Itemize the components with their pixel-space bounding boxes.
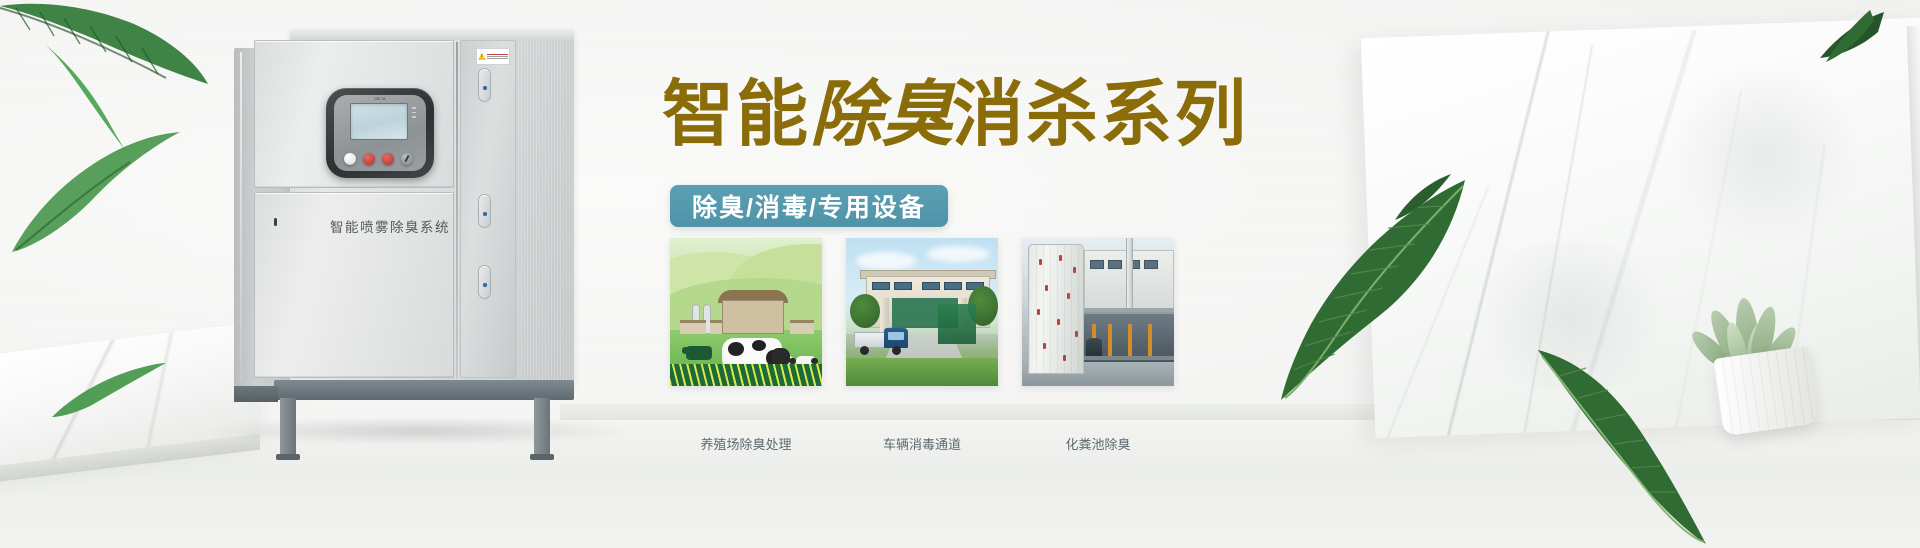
warning-sticker-lines — [487, 53, 508, 60]
thumbnail-disinfection-station[interactable] — [846, 238, 998, 386]
cabinet-base-plinth — [274, 380, 574, 400]
cabinet-handle-upper[interactable] — [478, 68, 491, 102]
power-indicator-lamp[interactable] — [344, 153, 356, 165]
product-banner: DELTA 智能喷雾除臭系统 智能除臭消杀系列 — [0, 0, 1920, 548]
leaf-tip-icon — [1800, 10, 1890, 80]
hmi-led-indicators — [412, 107, 416, 121]
hmi-faceplate: DELTA — [334, 95, 426, 171]
thumbnail-captions: 养殖场除臭处理 车辆消毒通道 化粪池除臭 — [670, 434, 1190, 453]
thumbnail-industrial-plant[interactable] — [1022, 238, 1174, 386]
warning-triangle-icon — [478, 53, 486, 60]
white-ribbed-pot — [1713, 346, 1819, 437]
cabinet-product-label: 智能喷雾除臭系统 — [290, 216, 490, 236]
subtitle-pill: 除臭/消毒/专用设备 — [670, 185, 948, 227]
cabinet-handle-lower[interactable] — [478, 265, 491, 299]
truck-illustration — [854, 326, 910, 360]
cabinet-door-seam — [456, 42, 458, 378]
caption-2: 化粪池除臭 — [1022, 434, 1174, 453]
storage-tank-illustration — [1028, 244, 1084, 374]
thumbnail-dairy-farm-illustration[interactable] — [670, 238, 822, 386]
mode-selector-knob[interactable] — [401, 153, 413, 165]
banana-leaf-icon — [1255, 168, 1485, 408]
leaf-blade-bottom-icon — [48, 355, 168, 430]
start-button[interactable] — [363, 153, 375, 165]
stop-button[interactable] — [382, 153, 394, 165]
headline-part-1: 智能 — [662, 75, 810, 155]
hmi-button-row[interactable] — [344, 153, 413, 165]
cabinet-leg-left — [280, 398, 296, 456]
caption-0: 养殖场除臭处理 — [670, 434, 822, 453]
hmi-touch-screen[interactable] — [350, 103, 408, 140]
cabinet-base-side — [234, 386, 278, 402]
headline-part-2-brush: 除臭 — [810, 71, 952, 156]
cabinet-foot-right — [530, 454, 554, 460]
cabinet-top-edge — [290, 30, 574, 40]
subtitle-pill-text: 除臭/消毒/专用设备 — [692, 188, 926, 224]
cabinet-keyhole-icon[interactable] — [274, 218, 277, 226]
caption-1: 车辆消毒通道 — [846, 434, 998, 453]
warning-sticker — [476, 48, 510, 65]
thumbnail-strip — [670, 238, 1174, 386]
leaf-blade-mid-icon — [6, 130, 186, 265]
cabinet-leg-right — [534, 398, 550, 456]
headline-part-3: 消杀系列 — [952, 75, 1248, 155]
hmi-control-panel[interactable]: DELTA — [326, 88, 434, 178]
product-cabinet: DELTA 智能喷雾除臭系统 — [234, 30, 574, 432]
hmi-brand-label: DELTA — [334, 97, 426, 101]
banana-leaf-lower-icon — [1530, 340, 1720, 548]
banner-headline: 智能除臭消杀系列 — [662, 78, 1248, 151]
cabinet-foot-left — [276, 454, 300, 460]
